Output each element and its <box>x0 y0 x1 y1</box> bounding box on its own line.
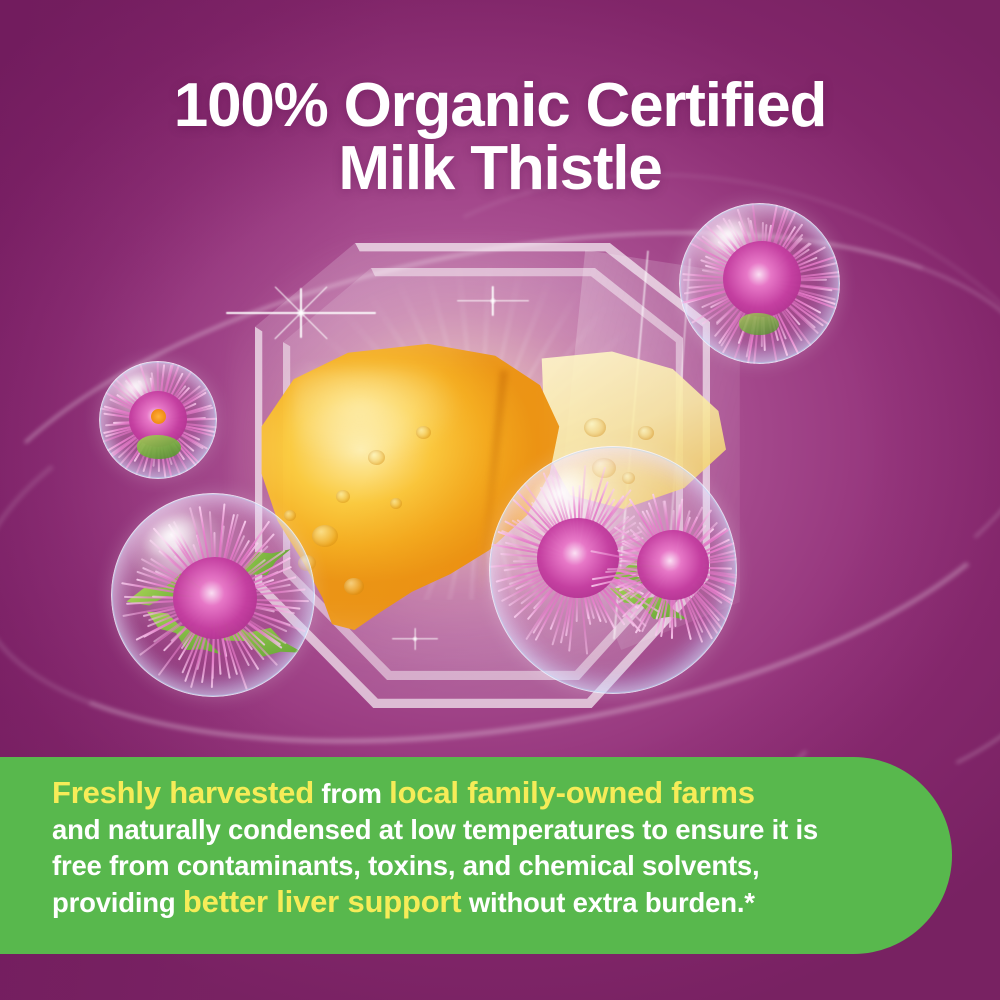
thistle-spike <box>672 525 706 568</box>
thistle-spike <box>673 538 731 568</box>
thistle-spike <box>149 539 216 600</box>
thistle-spike <box>535 559 579 640</box>
thistle-spike <box>761 203 792 281</box>
thistle-spike <box>143 598 215 638</box>
thistle-spike <box>753 281 763 364</box>
thistle-spikes <box>99 363 217 479</box>
thistle-spike <box>673 566 737 593</box>
thistle-spike <box>761 281 779 341</box>
thistle-spike <box>158 388 208 422</box>
thistle-spike <box>550 475 579 560</box>
thistle-spike <box>577 481 609 560</box>
thistle-spike <box>139 598 215 656</box>
thistle-spike <box>630 566 674 599</box>
thistle-spike <box>513 559 578 618</box>
thistle-spike <box>214 535 245 599</box>
thistle-spike <box>136 571 215 601</box>
thistle-spike <box>673 552 737 568</box>
thistle-spike <box>720 280 763 346</box>
thistle-spike <box>673 566 737 580</box>
thistle-spike <box>192 543 216 599</box>
thistle-spike <box>572 486 579 560</box>
thistle-spike <box>214 598 282 649</box>
thistle-spike <box>761 203 789 281</box>
thistle-spike <box>214 598 265 660</box>
thistle-spike <box>636 566 673 609</box>
thistle-spike <box>578 537 644 561</box>
thistle-spike <box>560 560 579 644</box>
thistle-spike <box>215 598 275 613</box>
bubble-top-right <box>679 203 840 364</box>
thistle-spike <box>213 532 216 599</box>
thistle-spike <box>212 599 216 679</box>
thistle-spike <box>158 420 204 449</box>
thistle-leaf <box>137 594 231 672</box>
thistle-calyx <box>137 435 181 459</box>
thistle-spike <box>157 364 172 421</box>
thistle-spike <box>591 550 673 568</box>
thistle-spike <box>577 500 633 560</box>
thistle-spike <box>762 275 840 282</box>
thistle-spike <box>215 571 279 600</box>
thistle-spike <box>672 510 675 567</box>
claims-line-1-highlight-b: local family-owned farms <box>389 775 755 810</box>
thistle-spike <box>489 542 578 561</box>
thistle-spike <box>214 559 266 600</box>
thistle-spike <box>672 499 683 567</box>
thistle-head <box>537 518 619 598</box>
thistle-spike <box>672 566 732 626</box>
liver-bubble <box>416 426 431 439</box>
thistle-spike <box>106 420 159 461</box>
thistle-spike <box>497 559 578 592</box>
thistle-spike <box>761 203 779 281</box>
thistle-spike <box>746 281 763 364</box>
thistle-spike <box>683 279 762 282</box>
thistle-spike <box>629 528 674 567</box>
thistle-spike <box>618 566 674 603</box>
thistle-spike <box>155 570 216 600</box>
thistle-spike <box>639 566 674 621</box>
thistle-spike <box>685 239 763 281</box>
thistle-spike <box>621 559 673 568</box>
thistle-spike <box>701 269 762 282</box>
thistle-spike <box>214 533 275 600</box>
thistle-spike <box>577 559 635 627</box>
thistle-spike <box>722 217 763 281</box>
thistle-spike <box>630 566 674 618</box>
thistle-spikes <box>131 517 300 681</box>
thistle-spike <box>116 394 159 422</box>
thistle-spike <box>691 280 763 324</box>
thistle-spike <box>761 280 801 326</box>
liver-bubble <box>638 426 654 440</box>
thistle-spike <box>512 520 579 561</box>
thistle-spike <box>673 558 737 568</box>
thistle-spike <box>673 537 737 567</box>
thistle-spike <box>546 509 579 561</box>
thistle-spike <box>577 515 629 560</box>
thistle-spike <box>761 281 801 359</box>
thistle-spike <box>170 533 216 600</box>
thistle-spike <box>157 420 194 452</box>
claims-line-4-plain-b: without extra burden.* <box>461 887 754 918</box>
thistle-spike <box>134 421 159 479</box>
thistle-spike <box>136 579 215 601</box>
sparkle-flare <box>300 312 301 313</box>
thistle-leaf <box>583 546 680 598</box>
bubble-center-right <box>489 446 737 694</box>
thistle-spike <box>565 560 579 637</box>
thistle-spike <box>761 280 803 341</box>
thistle-spike <box>655 567 674 620</box>
thistle-spike <box>522 481 578 560</box>
thistle-spike <box>158 420 217 428</box>
thistle-spike <box>508 559 578 606</box>
promo-graphic-canvas: 100% Organic Certified Milk Thistle Fres… <box>0 0 1000 1000</box>
thistle-spike <box>121 582 215 600</box>
thistle-spike <box>738 281 763 345</box>
thistle-spike <box>632 533 673 568</box>
thistle-spike <box>214 598 266 646</box>
thistle-spike <box>672 510 691 568</box>
thistle-spike <box>103 413 158 422</box>
thistle-spike <box>138 380 159 421</box>
thistle-spike <box>158 417 206 422</box>
thistle-spike <box>568 560 579 652</box>
thistle-spike <box>214 525 225 599</box>
thistle-spike <box>762 252 840 282</box>
thistle-spike <box>622 542 673 567</box>
thistle-spikes <box>495 478 661 642</box>
thistle-spike <box>761 280 819 334</box>
thistle-spike <box>605 566 673 573</box>
thistle-spike <box>714 280 763 337</box>
thistle-spike <box>690 232 763 282</box>
thistle-spike <box>637 526 674 568</box>
thistle-spike <box>672 567 703 634</box>
thistle-spike <box>614 526 674 568</box>
thistle-spike <box>215 576 296 600</box>
thistle-spike <box>201 599 216 683</box>
liver-bubble <box>284 510 296 521</box>
thistle-spike <box>623 540 674 568</box>
thistle-spike <box>762 280 833 291</box>
thistle-spike <box>215 579 274 600</box>
claims-line-4-highlight: better liver support <box>183 884 462 919</box>
thistle-spike <box>157 420 204 468</box>
thistle-spike <box>672 516 698 567</box>
thistle-spike <box>525 559 579 640</box>
thistle-spike <box>214 550 285 600</box>
liver-highlight <box>292 368 462 463</box>
claims-line-4: providing better liver support without e… <box>52 884 878 921</box>
thistle-spike <box>542 472 579 561</box>
sparkle-flare <box>414 638 415 639</box>
thistle-spike <box>738 221 763 281</box>
claims-line-3: free from contaminants, toxins, and chem… <box>52 848 878 884</box>
sparkle-flare <box>492 300 493 301</box>
thistle-spike <box>106 420 158 452</box>
thistle-spike <box>211 599 216 688</box>
thistle-spike <box>660 567 674 637</box>
thistle-spike <box>152 596 215 600</box>
thistle-spike <box>509 559 579 585</box>
claims-line-1-highlight-a: Freshly harvested <box>52 775 314 810</box>
thistle-spike <box>215 566 293 600</box>
claims-line-2: and naturally condensed at low temperatu… <box>52 812 878 848</box>
thistle-spike <box>158 403 197 422</box>
thistle-spike <box>761 280 832 327</box>
thistle-spike <box>139 381 159 422</box>
thistle-flower <box>617 512 729 622</box>
thistle-spike <box>705 265 762 282</box>
thistle-spike <box>577 499 615 561</box>
thistle-spike <box>209 511 216 599</box>
thistle-spike <box>577 560 592 625</box>
thistle-spike <box>214 540 250 600</box>
thistle-spike <box>501 530 579 561</box>
thistle-spike <box>673 540 737 568</box>
thistle-spike <box>761 208 798 282</box>
thistle-spike <box>761 280 824 326</box>
thistle-spike <box>105 420 159 437</box>
thistle-spike <box>158 404 213 421</box>
thistle-spike <box>621 566 674 598</box>
thistle-center <box>151 409 166 424</box>
thistle-spike <box>761 242 810 282</box>
thistle-spike <box>672 521 718 567</box>
thistle-spike <box>705 255 762 282</box>
thistle-spike <box>761 281 763 347</box>
thistle-spike <box>750 203 763 281</box>
thistle-spike <box>761 224 772 281</box>
thistle-spike <box>577 495 625 561</box>
thistle-spike <box>214 599 250 667</box>
thistle-spike <box>127 598 216 605</box>
thistle-spike <box>728 219 763 282</box>
thistle-spike <box>109 398 158 422</box>
thistle-leaf <box>121 558 224 622</box>
thistle-spike <box>158 420 209 450</box>
thistle-spike <box>578 559 653 579</box>
claims-line-4-plain-a: providing <box>52 887 183 918</box>
thistle-spike <box>214 545 268 599</box>
thistle-spike <box>762 280 840 292</box>
thistle-spike <box>531 520 579 561</box>
thistle-flower <box>701 221 823 341</box>
thistle-spike <box>157 387 190 421</box>
thistle-spike <box>142 567 215 600</box>
thistle-spike <box>701 220 763 281</box>
thistle-spike <box>672 509 712 567</box>
thistle-spike <box>178 598 216 660</box>
thistle-spike <box>107 379 158 421</box>
thistle-spike <box>118 420 159 458</box>
thistle-spike <box>513 559 578 563</box>
thistle-spike <box>214 504 226 599</box>
thistle-spike <box>214 599 222 675</box>
thistle-spike <box>701 280 762 308</box>
thistle-spike <box>577 559 643 595</box>
thistle-flower <box>113 377 203 465</box>
thistle-spike <box>716 280 763 325</box>
thistle-spike <box>157 421 181 477</box>
thistle-spike <box>505 542 578 561</box>
thistle-spike <box>158 420 217 438</box>
thistle-spike <box>551 560 579 646</box>
thistle-spike <box>577 501 593 560</box>
thistle-spike <box>616 566 674 588</box>
thistle-spike <box>215 598 291 626</box>
thistle-spike <box>214 598 287 645</box>
thistle-spike <box>664 501 674 567</box>
bubble-small-left <box>99 361 217 479</box>
thistle-spike <box>214 514 239 599</box>
thistle-spike <box>672 566 723 630</box>
thistle-spike <box>762 279 827 282</box>
thistle-spike <box>170 598 215 642</box>
thistle-spike <box>629 498 674 567</box>
thistle-spike <box>157 367 195 422</box>
thistle-spike <box>152 527 215 600</box>
thistle-spike <box>490 559 578 568</box>
thistle-spike <box>157 361 182 421</box>
thistle-spike <box>214 542 259 600</box>
thistle-spike <box>683 273 762 282</box>
thistle-spike <box>761 224 767 281</box>
thistle-spike <box>672 566 720 621</box>
thistle-head <box>723 241 801 317</box>
thistle-spike <box>761 233 803 281</box>
thistle-spike <box>684 280 762 294</box>
thistle-spike <box>157 421 174 479</box>
thistle-spike <box>762 271 840 282</box>
thistle-spike <box>718 226 763 282</box>
thistle-spike <box>577 530 629 561</box>
thistle-spike <box>672 516 691 567</box>
thistle-spike <box>652 493 674 567</box>
thistle-leaf <box>603 572 694 637</box>
thistle-spike <box>181 599 216 674</box>
thistle-spike <box>150 377 159 421</box>
thistle-spike <box>497 531 578 561</box>
thistle-spike <box>147 598 215 628</box>
thistle-spike <box>716 225 763 282</box>
thistle-spike <box>592 566 673 580</box>
thistle-spike <box>762 246 827 282</box>
thistle-spike <box>214 521 246 600</box>
thistle-spike <box>157 421 160 472</box>
thistle-spike <box>532 559 579 634</box>
thistle-spike <box>215 583 291 600</box>
thistle-spike <box>635 567 674 634</box>
thistle-spike <box>189 507 216 599</box>
thistle-spike <box>761 248 810 282</box>
thistle-spike <box>214 598 281 645</box>
thistle-spike <box>737 209 763 281</box>
thistle-spike <box>578 542 668 562</box>
thistle-spike <box>655 567 674 636</box>
thistle-spike <box>118 366 159 421</box>
thistle-spike <box>527 559 579 620</box>
thistle-spike <box>215 598 309 602</box>
thistle-spike <box>157 361 176 421</box>
thistle-spike <box>710 280 763 308</box>
thistle-spike <box>577 467 606 560</box>
thistle-spike <box>577 559 646 627</box>
thistle-spike <box>688 280 762 289</box>
thistle-spike <box>578 536 641 561</box>
thistle-spike <box>142 421 158 472</box>
thistle-spike <box>578 559 643 572</box>
thistle-spike <box>761 281 787 340</box>
thistle-spike <box>673 566 732 570</box>
thistle-spike <box>196 599 216 671</box>
thistle-spike <box>672 528 714 568</box>
thistle-spike <box>671 567 674 639</box>
thistle-spike <box>100 389 158 422</box>
thistle-spike <box>673 566 726 591</box>
thistle-spike <box>190 599 216 688</box>
thistle-spike <box>158 418 217 422</box>
thistle-spike <box>104 405 158 421</box>
thistle-spike <box>578 559 651 590</box>
thistle-spike <box>718 280 763 344</box>
thistle-spike <box>500 553 578 561</box>
thistle-spike <box>215 598 306 632</box>
thistle-spike <box>578 554 645 561</box>
liver-bubble <box>584 418 606 437</box>
thistle-spike <box>214 520 270 599</box>
thistle-spike <box>153 598 216 643</box>
thistle-spike <box>578 531 642 561</box>
claims-line-1: Freshly harvested from local family-owne… <box>52 775 878 812</box>
thistle-spike <box>158 420 201 441</box>
thistle-spike <box>673 566 737 586</box>
thistle-spike <box>501 559 578 602</box>
thistle-spike <box>516 519 578 561</box>
thistle-spike <box>762 280 836 305</box>
thistle-spike <box>124 596 215 600</box>
thistle-spike <box>578 559 643 578</box>
thistle-spike <box>157 385 201 422</box>
thistle-leaf <box>205 532 299 604</box>
thistle-spike <box>214 599 228 657</box>
thistle-spike <box>577 559 641 632</box>
thistle-spike <box>215 598 300 610</box>
thistle-spike <box>577 560 590 619</box>
thistle-spike <box>577 521 636 560</box>
thistle-spike <box>143 598 216 617</box>
thistle-head <box>129 391 187 447</box>
thistle-spike <box>158 392 207 422</box>
thistle-spike <box>577 559 659 613</box>
thistle-spike <box>750 220 763 281</box>
thistle-spike <box>152 421 159 467</box>
thistle-spike <box>577 560 602 622</box>
liver-bubble <box>344 578 364 595</box>
thistle-spike <box>121 420 159 475</box>
thistle-spike <box>761 243 812 282</box>
thistle-spike <box>577 488 615 560</box>
thistle-spike <box>672 504 681 567</box>
thistle-spike <box>540 487 579 561</box>
thistle-calyx <box>739 313 779 335</box>
thistle-spike <box>577 489 632 561</box>
thistle-spike <box>761 280 813 347</box>
claims-text: Freshly harvested from local family-owne… <box>52 775 878 921</box>
